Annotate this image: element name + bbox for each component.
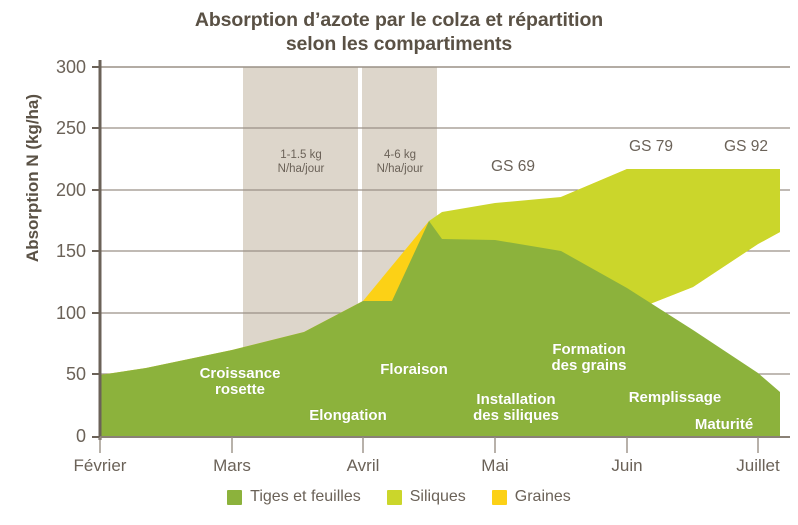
legend-label-graines: Graines — [515, 488, 571, 506]
stage-label-croissance-rosette: Croissance rosette — [170, 366, 310, 398]
stage-label-floraison: Floraison — [354, 362, 474, 378]
legend-swatch-siliques — [387, 490, 402, 505]
stage-label-croissance-rosette-line2: rosette — [215, 381, 265, 398]
stage-label-remplissage: Remplissage — [608, 390, 742, 406]
legend-label-tiges-et-feuilles: Tiges et feuilles — [250, 488, 361, 506]
stage-label-installation-line1: Installation — [476, 391, 555, 408]
annotation-gs-79: GS 79 — [609, 138, 693, 156]
stage-label-formation-line1: Formation — [552, 341, 625, 358]
stage-label-elongation: Elongation — [288, 408, 408, 424]
band-label-2: 4-6 kg N/ha/jour — [352, 148, 448, 177]
band-label-2-line2: N/ha/jour — [377, 163, 424, 175]
band-label-1-line2: N/ha/jour — [278, 163, 325, 175]
x-tick-fevrier: Février — [40, 456, 160, 476]
chart-root: Absorption d’azote par le colza et répar… — [0, 0, 798, 525]
legend-item-tiges-et-feuilles: Tiges et feuilles — [227, 488, 361, 506]
x-tick-avril: Avril — [303, 456, 423, 476]
stage-label-croissance-rosette-line1: Croissance — [200, 365, 281, 382]
x-tick-juin: Juin — [567, 456, 687, 476]
legend-swatch-tiges-et-feuilles — [227, 490, 242, 505]
annotation-gs-92: GS 92 — [704, 138, 788, 156]
stage-label-maturite: Maturité — [660, 417, 788, 433]
band-label-2-line1: 4-6 kg — [384, 149, 416, 161]
chart-legend: Tiges et feuilles Siliques Graines — [0, 488, 798, 506]
legend-swatch-graines — [492, 490, 507, 505]
annotation-gs-69: GS 69 — [471, 158, 555, 176]
stage-label-formation-des-grains: Formation des grains — [522, 342, 656, 374]
x-tick-mars: Mars — [172, 456, 292, 476]
stage-label-installation-des-siliques: Installation des siliques — [446, 392, 586, 424]
legend-item-siliques: Siliques — [387, 488, 466, 506]
plot-area — [0, 0, 798, 525]
x-tick-mai: Mai — [435, 456, 555, 476]
band-label-1-line1: 1-1.5 kg — [280, 149, 322, 161]
legend-label-siliques: Siliques — [410, 488, 466, 506]
band-label-1: 1-1.5 kg N/ha/jour — [241, 148, 361, 177]
legend-item-graines: Graines — [492, 488, 571, 506]
x-tick-juillet: Juillet — [698, 456, 798, 476]
stage-label-formation-line2: des grains — [551, 357, 626, 374]
stage-label-installation-line2: des siliques — [473, 407, 559, 424]
